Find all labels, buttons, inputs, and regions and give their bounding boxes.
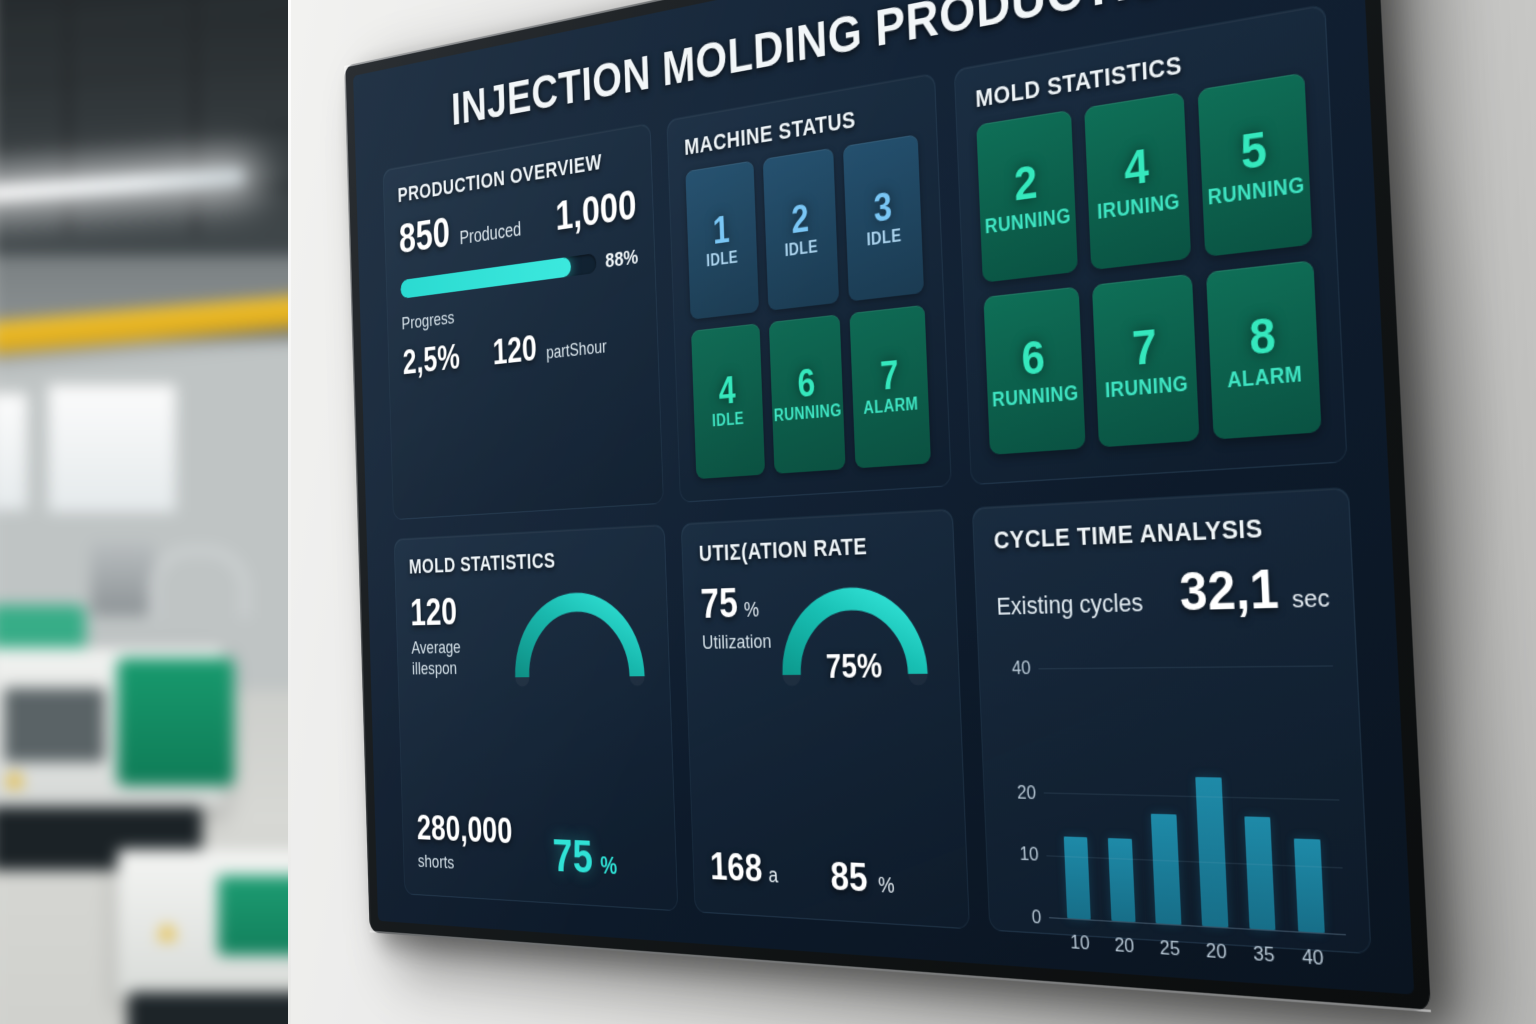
chart-bar-column[interactable]	[1230, 633, 1281, 930]
tile-number: 4	[1123, 142, 1150, 194]
tile-number: 5	[1240, 124, 1268, 177]
status-tile[interactable]: 5RUNNING	[1198, 73, 1313, 257]
window	[48, 385, 175, 512]
tile-number: 6	[1021, 333, 1046, 382]
panel-title: UTIΣ(ATION RATE	[698, 529, 934, 567]
chart-gridline	[1039, 666, 1333, 670]
rate-percent: 2,5%	[402, 337, 460, 383]
chart-bar-column[interactable]	[1278, 633, 1331, 934]
chart-x-tick: 25	[1151, 936, 1188, 962]
status-tile[interactable]: 1IDLE	[685, 161, 758, 320]
mold-stats-values: 120 Average illespon 280,000 shorts	[410, 585, 514, 883]
tile-number: 1	[712, 211, 730, 250]
scene: INJECTION MOLDING PRODUCTION PRODUCTION …	[0, 0, 1536, 1024]
tile-status-label: RUNNING	[774, 402, 843, 427]
produced-group: 850 Produced	[398, 198, 521, 264]
panel-title: CYCLE TIME ANALYSIS	[993, 510, 1327, 555]
machine-green-guard	[117, 658, 234, 785]
chart-y-tick: 10	[1019, 843, 1039, 867]
tile-status-label: RUNNING	[984, 205, 1071, 240]
status-tile[interactable]: 3IDLE	[843, 134, 924, 301]
panel-mold-statistics-tiles[interactable]: MOLD STATISTICS 2RUNNING4IRUNING5RUNNING…	[954, 4, 1348, 485]
status-tile[interactable]: 4IRUNING	[1084, 92, 1192, 270]
tile-status-label: IDLE	[706, 249, 738, 272]
status-tile[interactable]: 2RUNNING	[976, 110, 1077, 282]
chart-bar	[1196, 777, 1228, 928]
status-tile[interactable]: 2IDLE	[762, 148, 839, 311]
machine-tile-grid: 1IDLE2IDLE3IDLE4IDLE6RUNNING7ALARM	[685, 134, 931, 479]
panel-cycle-time-analysis[interactable]: CYCLE TIME ANALYSIS Existing cycles 32,1…	[972, 487, 1372, 954]
shots-group: 280,000 shorts	[416, 808, 514, 878]
hours-unit: a	[768, 864, 778, 889]
produced-label: Produced	[459, 219, 521, 249]
tile-status-label: IRUNING	[1104, 372, 1188, 403]
machine-pipe	[149, 547, 249, 618]
tile-number: 4	[718, 372, 736, 411]
util-value: 75	[700, 581, 739, 629]
mold-pct-value: 75	[552, 828, 594, 883]
tile-status-label: IDLE	[784, 238, 818, 261]
utilization-body: 75 % Utilization 168 a	[700, 569, 949, 908]
chart-bar	[1244, 817, 1275, 930]
rate-value: 120	[492, 328, 537, 373]
status-tile[interactable]: 4IDLE	[691, 323, 765, 479]
rate-unit: partShour	[546, 336, 607, 362]
window	[0, 393, 27, 510]
mold-pct-group: 75 %	[512, 826, 660, 892]
machine-window	[1, 685, 108, 766]
util-symbol: %	[744, 599, 760, 623]
ceiling-strut	[192, 0, 199, 234]
util-label: Utilization	[702, 631, 772, 655]
machine-hopper	[91, 542, 155, 616]
lifespan-value: 120	[410, 589, 506, 635]
dashboard-grid: PRODUCTION OVERVIEW 850 Produced 1,000	[383, 4, 1372, 955]
chart-bars	[1037, 632, 1346, 934]
chart-y-tick: 0	[1031, 906, 1041, 929]
util-group: 75 % Utilization	[700, 579, 772, 655]
utilization-gauge: 75%	[769, 569, 940, 681]
ceiling-strut	[64, 0, 71, 234]
chart-bar	[1151, 814, 1181, 924]
cycle-time-unit: sec	[1291, 585, 1330, 614]
panel-title: MOLD STATISTICS	[975, 29, 1304, 113]
panel-title: MOLD STATISTICS	[409, 543, 650, 579]
chart-bar-column[interactable]	[1050, 637, 1096, 920]
cycle-time-subtitle: Existing cycles	[996, 588, 1144, 622]
wall-display: INJECTION MOLDING PRODUCTION PRODUCTION …	[258, 8, 1428, 948]
chart-plot-area	[1037, 632, 1346, 935]
display-bezel: INJECTION MOLDING PRODUCTION PRODUCTION …	[344, 0, 1431, 1012]
utilization-gauge-col: 75% 85 %	[769, 569, 949, 908]
util-bottom-value: 85	[830, 854, 869, 900]
tile-number: 2	[1013, 158, 1038, 208]
tile-number: 7	[1131, 322, 1158, 373]
status-tile[interactable]: 8ALARM	[1206, 260, 1321, 440]
tile-number: 8	[1248, 310, 1277, 363]
chart-x-tick: 20	[1106, 933, 1142, 959]
mold-gauge	[504, 580, 653, 683]
target-value: 1,000	[555, 180, 638, 240]
tile-status-label: IDLE	[866, 227, 902, 251]
panel-title: MACHINE STATUS	[684, 95, 917, 161]
panel-machine-status[interactable]: MACHINE STATUS 1IDLE2IDLE3IDLE4IDLE6RUNN…	[666, 72, 952, 502]
cycle-time-value: 32,1	[1178, 557, 1280, 622]
tile-status-label: ALARM	[863, 395, 919, 419]
tile-status-label: ALARM	[1227, 362, 1303, 393]
mold-tile-grid: 2RUNNING4IRUNING5RUNNING6RUNNING7IRUNING…	[976, 73, 1321, 455]
panel-mold-statistics[interactable]: MOLD STATISTICS 120 Average illespon	[394, 524, 678, 911]
chart-y-axis: 0102040	[998, 638, 1049, 919]
mold-pct-symbol: %	[600, 852, 618, 880]
chart-gridline	[1044, 793, 1340, 801]
status-tile[interactable]: 6RUNNING	[984, 286, 1086, 455]
util-value-row: 75 %	[700, 579, 771, 628]
display-screen: INJECTION MOLDING PRODUCTION PRODUCTION …	[353, 0, 1414, 995]
rate-group: 120 partShour	[492, 319, 607, 373]
chart-x-tick: 20	[1197, 939, 1235, 965]
chart-x-tick: 10	[1063, 931, 1098, 956]
chart-bar-column[interactable]	[1094, 636, 1141, 922]
utilization-values: 75 % Utilization 168 a	[700, 575, 781, 898]
tile-number: 6	[797, 364, 816, 404]
chart-y-tick: 20	[1017, 781, 1037, 804]
tile-status-label: IDLE	[712, 411, 744, 432]
mold-stats-body: 120 Average illespon 280,000 shorts	[410, 580, 661, 892]
chart-bar-column[interactable]	[1184, 634, 1234, 927]
dashboard-title: INJECTION MOLDING PRODUCTION	[380, 0, 1324, 149]
warning-triangle-icon	[5, 771, 24, 787]
shots-label: shorts	[418, 851, 514, 877]
chart-x-axis: 102025203540	[1050, 930, 1348, 973]
lifespan-group: 120 Average illespon	[410, 589, 508, 680]
cycle-time-chart[interactable]: 0102040 102025203540	[998, 632, 1346, 935]
shots-value: 280,000	[416, 808, 513, 852]
panel-production-overview[interactable]: PRODUCTION OVERVIEW 850 Produced 1,000	[383, 123, 664, 521]
progress-bar-track[interactable]	[400, 253, 596, 299]
tile-number: 2	[791, 199, 810, 239]
cycle-time-header: Existing cycles 32,1 sec	[995, 554, 1331, 627]
lifespan-label: Average illespon	[411, 637, 507, 681]
produced-value: 850	[398, 209, 450, 263]
mold-stats-gauge-col: 75 %	[504, 580, 660, 892]
status-tile[interactable]: 6RUNNING	[768, 314, 845, 474]
chart-bar	[1107, 838, 1135, 922]
status-tile[interactable]: 7IRUNING	[1092, 273, 1200, 447]
util-bottom-group: 85 %	[779, 852, 949, 908]
util-bottom-symbol: %	[878, 873, 895, 898]
chart-y-tick: 40	[1011, 657, 1031, 680]
hours-value: 168	[709, 845, 763, 892]
tile-status-label: RUNNING	[1207, 173, 1305, 211]
progress-percent: 88%	[605, 245, 639, 273]
chart-gridline	[1046, 855, 1342, 868]
dashboard: INJECTION MOLDING PRODUCTION PRODUCTION …	[353, 0, 1414, 995]
chart-bar-column[interactable]	[1138, 635, 1187, 925]
status-tile[interactable]: 7ALARM	[850, 304, 931, 468]
tile-number: 7	[880, 356, 900, 397]
panel-utilization-rate[interactable]: UTIΣ(ATION RATE 75 % Utiliz	[681, 508, 970, 929]
progress-bar-fill	[400, 257, 571, 299]
chart-bar	[1294, 838, 1325, 933]
tile-number: 3	[873, 187, 893, 228]
warning-triangle-icon	[158, 923, 177, 939]
hours-group: 168 a	[709, 845, 780, 893]
chart-x-tick: 35	[1245, 942, 1284, 969]
chart-x-tick: 40	[1293, 945, 1333, 972]
cycle-time-readout: 32,1 sec	[1178, 554, 1330, 623]
chart-bar	[1064, 837, 1091, 920]
tile-status-label: RUNNING	[992, 381, 1079, 412]
utilization-gauge-label: 75%	[772, 646, 940, 687]
tile-status-label: IRUNING	[1097, 190, 1181, 225]
